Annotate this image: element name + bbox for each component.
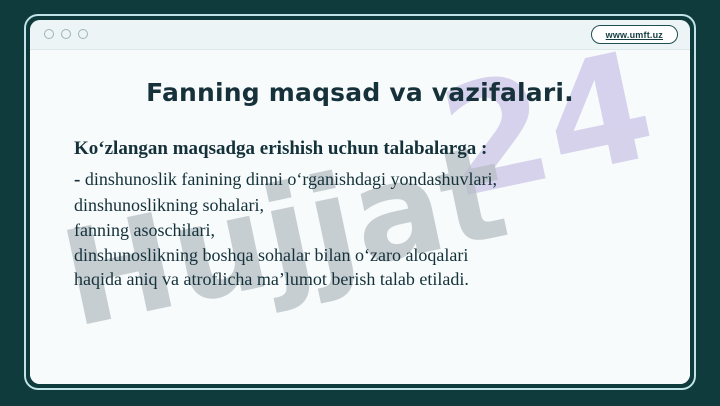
body-text-block: Ko‘zlangan maqsadga erishish uchun talab… bbox=[74, 137, 654, 292]
slide-canvas: 24 Hujjat Fanning maqsad va vazifalari. … bbox=[30, 50, 690, 384]
close-circle-icon[interactable] bbox=[44, 29, 54, 39]
detail-line-1-text: dinshunoslik fanining dinni o‘rganishdag… bbox=[85, 169, 497, 189]
detail-line-4: dinshunoslikning boshqa sohalar bilan o‘… bbox=[74, 243, 654, 268]
detail-paragraph: - dinshunoslik fanining dinni o‘rganishd… bbox=[74, 167, 654, 293]
page-title: Fanning maqsad va vazifalari. bbox=[30, 50, 690, 107]
url-pill[interactable]: www.umft.uz bbox=[591, 25, 678, 44]
browser-mockup: www.umft.uz 24 Hujjat Fanning maqsad va … bbox=[30, 20, 690, 384]
detail-line-1: - dinshunoslik fanining dinni o‘rganishd… bbox=[74, 167, 654, 193]
dash-marker: - bbox=[74, 169, 80, 190]
maximize-circle-icon[interactable] bbox=[78, 29, 88, 39]
detail-line-5: haqida aniq va atroflicha ma’lumot beris… bbox=[74, 267, 654, 292]
detail-line-2: dinshunoslikning sohalari, bbox=[74, 193, 654, 218]
window-controls bbox=[44, 29, 88, 39]
minimize-circle-icon[interactable] bbox=[61, 29, 71, 39]
slide-root: www.umft.uz 24 Hujjat Fanning maqsad va … bbox=[0, 0, 720, 406]
lead-sentence: Ko‘zlangan maqsadga erishish uchun talab… bbox=[74, 137, 654, 161]
detail-line-3: fanning asoschilari, bbox=[74, 218, 654, 243]
browser-titlebar: www.umft.uz bbox=[30, 20, 690, 50]
url-text: www.umft.uz bbox=[606, 30, 663, 40]
slide-content: Fanning maqsad va vazifalari. Ko‘zlangan… bbox=[30, 50, 690, 292]
